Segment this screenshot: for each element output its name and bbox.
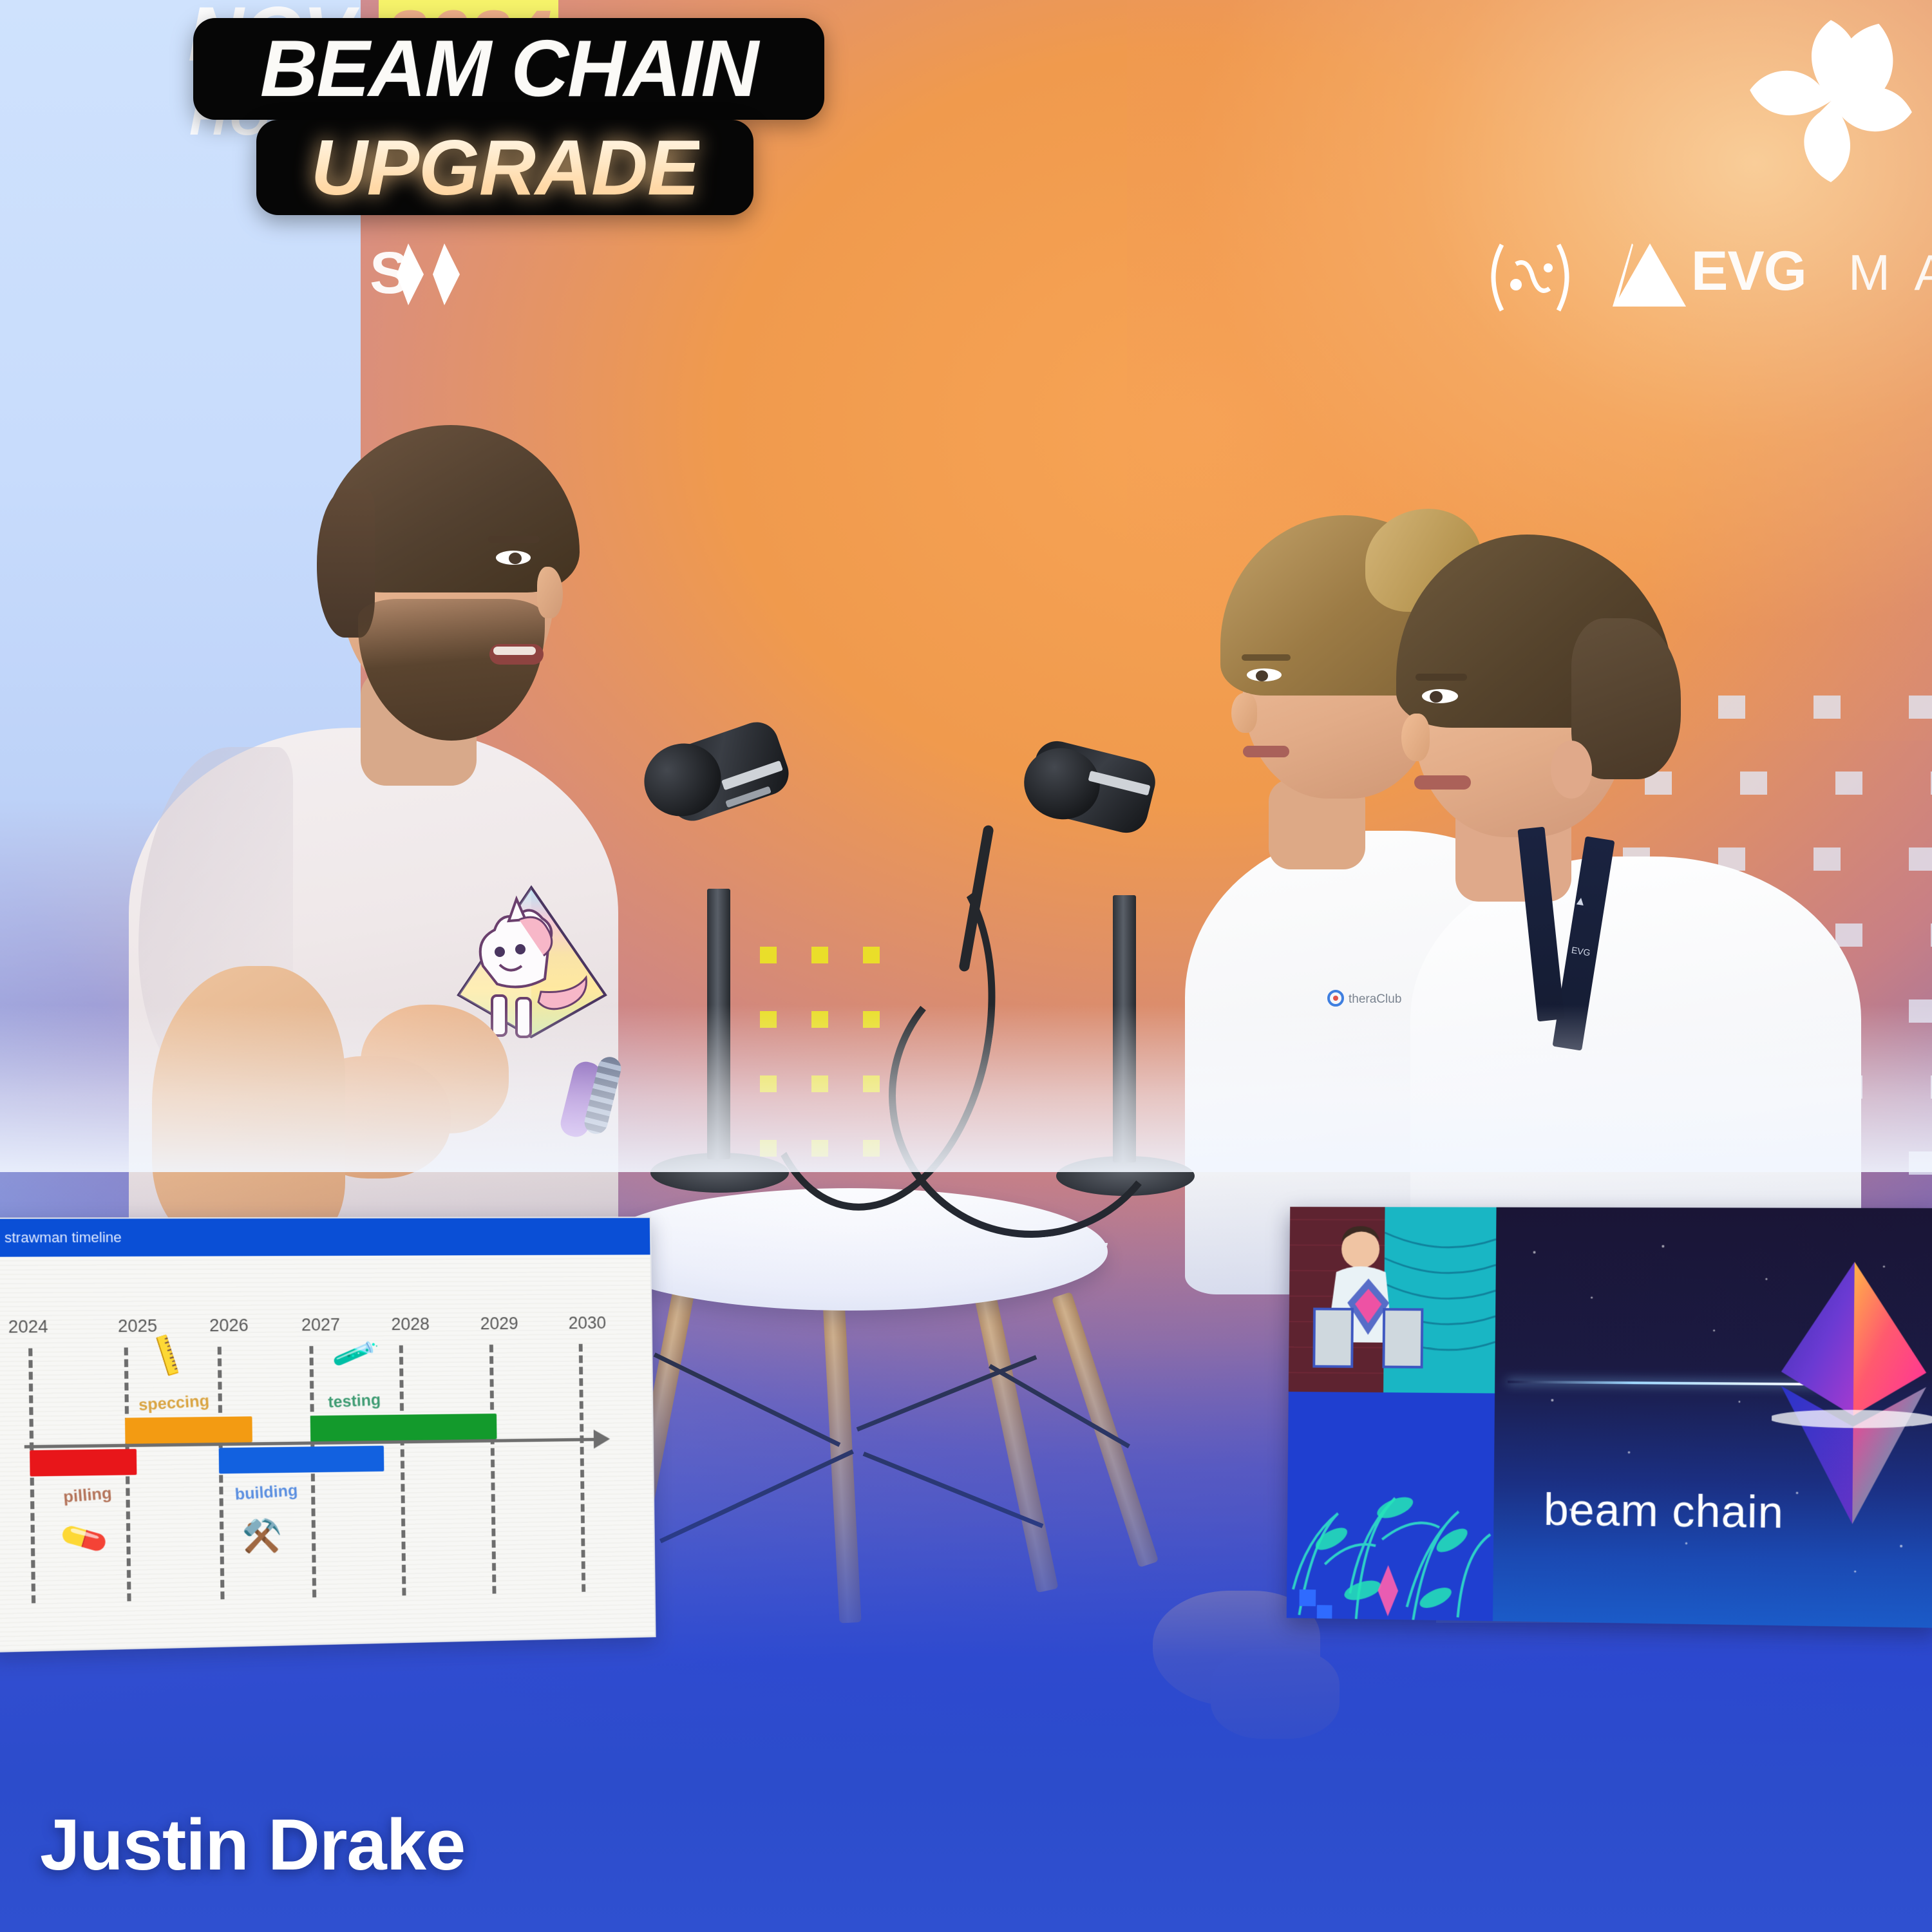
ruler-icon: 📏	[142, 1332, 193, 1379]
title-line-1: BEAM CHAIN	[260, 23, 757, 115]
tick-label-2029: 2029	[480, 1314, 518, 1334]
slide-strawman-timeline[interactable]: strawman timeline 2024 2025 2026 2027 20…	[0, 1217, 656, 1653]
guest-name: Justin Drake	[40, 1803, 465, 1886]
pill-icon: 💊	[59, 1515, 110, 1563]
ethereum-prism-icon	[1771, 1256, 1932, 1530]
timeline-label-testing: testing	[328, 1391, 381, 1412]
sponsor-label-evg: EVG	[1691, 240, 1806, 303]
beam-chain-backdrop: beam chain	[1493, 1207, 1932, 1628]
angle-brackets-icon	[374, 240, 489, 314]
tick-label-2028: 2028	[391, 1314, 430, 1334]
timeline-bar-pilling	[30, 1449, 137, 1477]
timeline-label-building: building	[234, 1481, 298, 1504]
paren-x-icon	[1462, 236, 1591, 323]
slide-header-bar: strawman timeline	[0, 1218, 650, 1256]
timeline-chart: 2024 2025 2026 2027 2028 2029 2030	[0, 1255, 655, 1651]
test-tube-icon: 🧪	[331, 1332, 380, 1376]
hammer-and-pick-icon: ⚒️	[241, 1519, 282, 1552]
timeline-bar-building	[219, 1446, 384, 1474]
sponsor-label-4: M A	[1848, 243, 1932, 302]
timeline-bar-testing	[310, 1414, 497, 1441]
tick-label-2027: 2027	[301, 1315, 340, 1335]
thumbnail-canvas: theraClub ▲ EVG	[0, 0, 1932, 1932]
beam-chain-side-art	[1287, 1207, 1497, 1621]
tick-label-2026: 2026	[209, 1316, 249, 1336]
beam-chain-caption: beam chain	[1544, 1484, 1785, 1539]
bottom-white-fade	[0, 1005, 1932, 1172]
tick-label-2024: 2024	[8, 1317, 48, 1338]
shutter-pinwheel-icon	[1739, 9, 1923, 193]
timeline-label-speccing: speccing	[138, 1392, 210, 1415]
slide-beam-chain[interactable]: beam chain	[1287, 1207, 1932, 1628]
timeline-label-pilling: pilling	[62, 1484, 112, 1507]
svg-text:theraClub: theraClub	[1349, 992, 1401, 1006]
title-box-secondary: UPGRADE	[256, 120, 753, 215]
timeline-bar-speccing	[125, 1416, 252, 1444]
tick-label-2025: 2025	[118, 1316, 158, 1337]
tick-label-2030: 2030	[569, 1313, 607, 1333]
title-box-primary: BEAM CHAIN	[193, 18, 824, 120]
title-line-2: UPGRADE	[310, 122, 699, 213]
slide-header-title: strawman timeline	[5, 1229, 122, 1247]
mountain-triangle-icon	[1610, 238, 1694, 316]
